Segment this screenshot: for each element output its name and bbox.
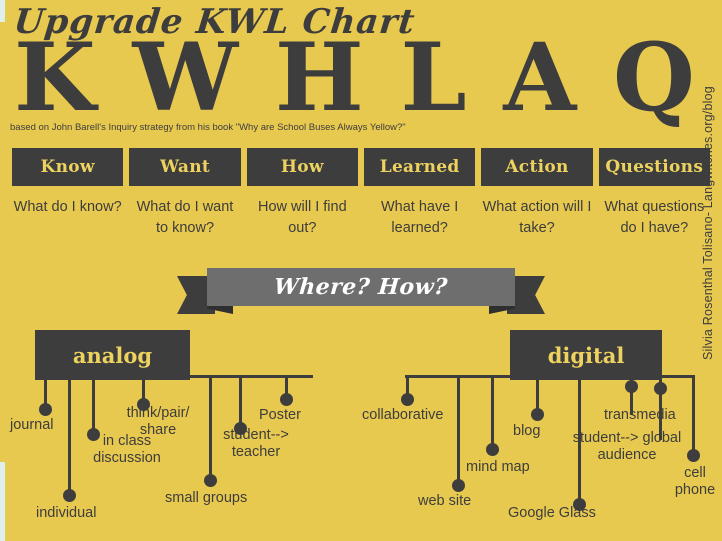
methods-tree: analog journal individual in class discu…: [0, 325, 722, 541]
column-learned-label: Learned: [380, 157, 460, 177]
column-want: Want What do I want to know?: [129, 148, 240, 239]
column-know-description: What do I know?: [12, 197, 123, 218]
analog-dot-individual: [63, 489, 76, 502]
digital-dot-blog: [531, 408, 544, 421]
analog-node-label: analog: [73, 343, 152, 368]
digital-dot-student-global-audience: [654, 382, 667, 395]
column-action-label: Action: [505, 157, 568, 177]
digital-node-box: digital: [510, 330, 662, 380]
acronym-letter-h: H: [275, 34, 363, 123]
digital-stem-mind-map: [491, 375, 494, 447]
analog-stem-student-teacher: [239, 375, 242, 426]
digital-leaf-mind-map: mind map: [466, 459, 530, 476]
acronym-row: K W H L A Q: [14, 34, 694, 123]
digital-leaf-blog: blog: [513, 423, 540, 440]
column-how-box: How: [247, 148, 358, 186]
digital-dot-collaborative: [401, 393, 414, 406]
column-want-description: What do I want to know?: [129, 197, 240, 239]
infographic-poster: Upgrade KWL Chart K W H L A Q based on J…: [0, 0, 722, 541]
column-header-row: Know What do I know? Want What do I want…: [12, 148, 710, 239]
analog-leaf-small-groups: small groups: [165, 490, 247, 507]
acronym-letter-q: Q: [613, 34, 694, 123]
digital-leaf-transmedia: transmedia: [604, 407, 676, 424]
digital-leaf-student-global-audience: student--> global audience: [566, 430, 688, 465]
digital-leaf-cell-phone: cell phone: [672, 465, 718, 500]
digital-dot-transmedia: [625, 380, 638, 393]
digital-stem-web-site: [457, 375, 460, 483]
analog-leaf-journal: journal: [10, 417, 54, 434]
column-know-box: Know: [12, 148, 123, 186]
digital-leaf-google-glass: Google Glass: [508, 505, 596, 522]
where-how-banner: Where? How?: [177, 268, 545, 314]
column-learned: Learned What have I learned?: [364, 148, 475, 239]
banner-text: Where? How?: [273, 274, 449, 300]
column-want-box: Want: [129, 148, 240, 186]
analog-stem-individual: [68, 380, 71, 493]
column-how-description: How will I find out?: [247, 197, 358, 239]
column-how: How How will I find out?: [247, 148, 358, 239]
digital-stem-cell-phone: [692, 375, 695, 453]
column-know: Know What do I know?: [12, 148, 123, 239]
digital-dot-web-site: [452, 479, 465, 492]
acronym-letter-w: W: [132, 34, 237, 123]
digital-dot-mind-map: [486, 443, 499, 456]
column-action-box: Action: [481, 148, 592, 186]
digital-node-label: digital: [548, 343, 625, 368]
source-note: based on John Barell's Inquiry strategy …: [10, 122, 406, 133]
analog-dot-poster: [280, 393, 293, 406]
acronym-letter-l: L: [400, 34, 465, 123]
banner-center: Where? How?: [207, 268, 515, 306]
column-how-label: How: [281, 157, 324, 177]
column-action: Action What action will I take?: [481, 148, 592, 239]
analog-dot-small-groups: [204, 474, 217, 487]
analog-leaf-poster: Poster: [259, 407, 301, 424]
column-action-description: What action will I take?: [481, 197, 592, 239]
column-questions-label: Questions: [605, 157, 703, 177]
column-questions-box: Questions: [599, 148, 710, 186]
acronym-letter-a: A: [503, 34, 575, 123]
analog-node-box: analog: [35, 330, 190, 380]
digital-dot-cell-phone: [687, 449, 700, 462]
analog-stem-in-class-discussion: [92, 380, 95, 432]
column-want-label: Want: [160, 157, 210, 177]
column-questions: Questions What questions do I have?: [599, 148, 710, 239]
digital-leaf-collaborative: collaborative: [362, 407, 443, 424]
analog-leaf-think-pair-share: think/pair/ share: [120, 405, 196, 440]
column-learned-box: Learned: [364, 148, 475, 186]
column-questions-description: What questions do I have?: [599, 197, 710, 239]
analog-leaf-student-teacher: student--> teacher: [213, 427, 299, 462]
digital-branch-bar-right: [660, 375, 694, 378]
digital-leaf-web-site: web site: [418, 493, 471, 510]
column-learned-description: What have I learned?: [364, 197, 475, 239]
analog-stem-small-groups: [209, 375, 212, 478]
analog-leaf-individual: individual: [36, 505, 96, 522]
column-know-label: Know: [41, 157, 95, 177]
analog-dot-journal: [39, 403, 52, 416]
acronym-letter-k: K: [14, 34, 95, 123]
analog-branch-bar: [188, 375, 313, 378]
